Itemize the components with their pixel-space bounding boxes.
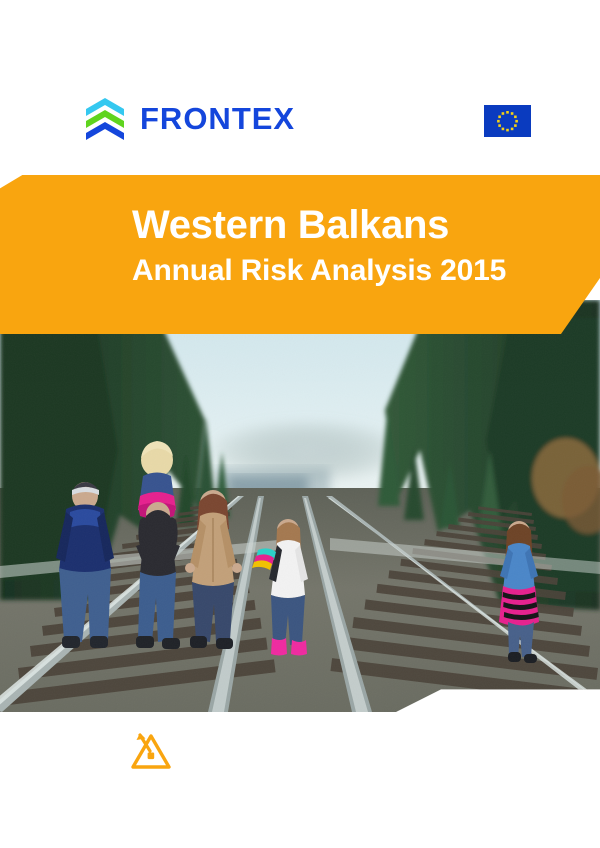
- cover-header: FRONTEX: [0, 0, 600, 175]
- cover-page: FRONTEX: [0, 0, 600, 848]
- european-union-flag-icon: [484, 105, 531, 137]
- frontex-logo: FRONTEX: [84, 96, 295, 140]
- risk-analysis-triangle-icon: [129, 730, 173, 774]
- cover-photograph: [0, 300, 600, 712]
- frontex-wordmark: FRONTEX: [140, 103, 295, 134]
- page-subtitle: Annual Risk Analysis 2015: [132, 254, 552, 287]
- page-title: Western Balkans: [132, 204, 552, 246]
- frontex-chevron-logo-icon: [84, 96, 126, 140]
- title-banner-text: Western Balkans Annual Risk Analysis 201…: [132, 204, 552, 287]
- title-banner: Western Balkans Annual Risk Analysis 201…: [0, 174, 600, 334]
